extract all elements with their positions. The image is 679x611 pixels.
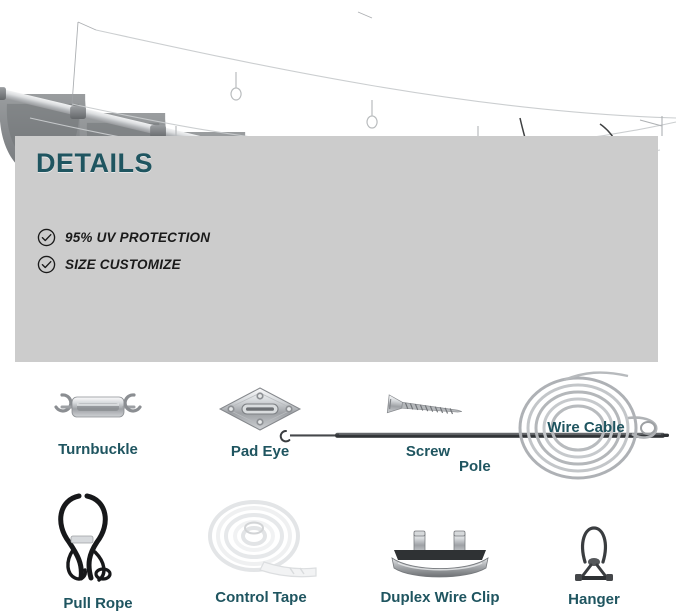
- details-panel: DETAILS 95% UV PROTECTION SIZE CUSTOMIZE: [15, 136, 658, 362]
- part-label: Pad Eye: [190, 444, 330, 461]
- parts-list: Turnbuckle Pad Eye: [0, 368, 679, 611]
- product-infographic: DETAILS 95% UV PROTECTION SIZE CUSTOMIZE: [0, 0, 679, 611]
- details-title: DETAILS: [36, 148, 153, 179]
- pull-rope-icon: [43, 490, 153, 586]
- part-label: Turnbuckle: [18, 442, 178, 459]
- part-pad-eye: Pad Eye: [190, 384, 330, 461]
- feature-label: 95% UV PROTECTION: [65, 230, 210, 245]
- duplex-wire-clip-icon: [382, 526, 498, 582]
- control-tape-icon: [202, 498, 320, 584]
- hanger-icon: [563, 522, 625, 584]
- part-screw: Screw: [358, 384, 498, 461]
- part-label: Duplex Wire Clip: [352, 590, 528, 607]
- feature-label: SIZE CUSTOMIZE: [65, 257, 181, 272]
- check-circle-icon: [37, 228, 56, 247]
- part-duplex-wire-clip: Duplex Wire Clip: [352, 526, 528, 607]
- feature-item-size-customize: SIZE CUSTOMIZE: [37, 255, 181, 274]
- part-label: Screw: [358, 444, 498, 461]
- part-label: Control Tape: [186, 590, 336, 607]
- part-wire-cable: Wire Cable: [500, 370, 672, 482]
- part-control-tape: Control Tape: [186, 498, 336, 607]
- part-pull-rope: Pull Rope: [18, 490, 178, 611]
- screw-icon: [382, 384, 474, 432]
- part-label: Pull Rope: [18, 596, 178, 611]
- part-hanger: Hanger: [524, 522, 664, 609]
- part-label: Hanger: [524, 592, 664, 609]
- feature-item-uv-protection: 95% UV PROTECTION: [37, 228, 210, 247]
- part-turnbuckle: Turnbuckle: [18, 384, 178, 459]
- pad-eye-icon: [214, 384, 306, 434]
- check-circle-icon: [37, 255, 56, 274]
- turnbuckle-icon: [36, 384, 160, 430]
- part-label: Wire Cable: [547, 420, 624, 437]
